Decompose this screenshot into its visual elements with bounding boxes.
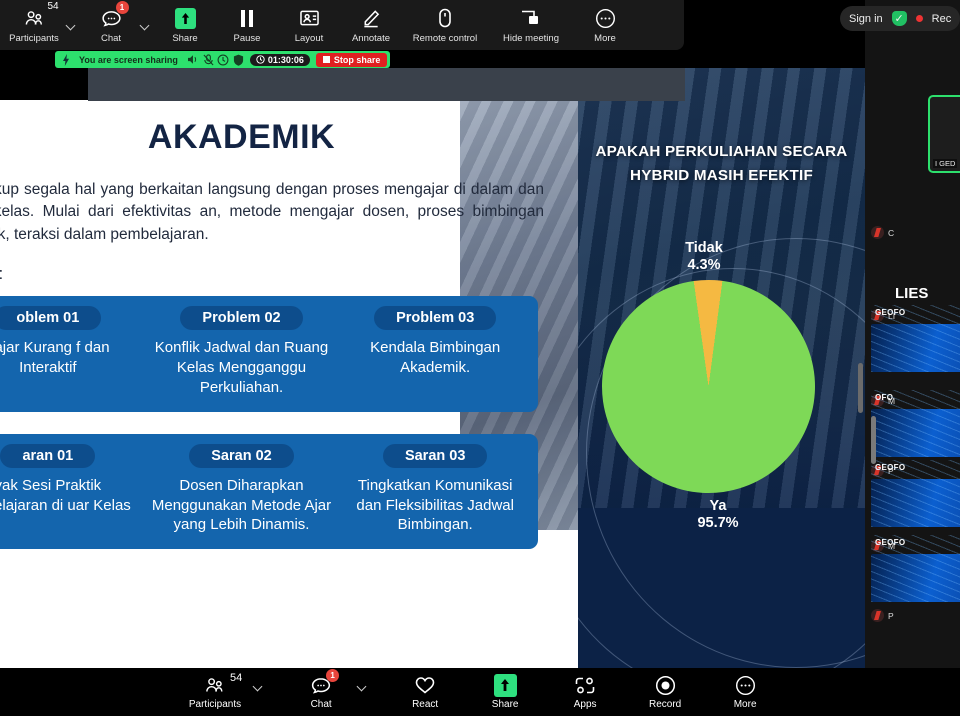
bottom-apps-button[interactable]: Apps — [559, 674, 611, 710]
sharing-indicator-icon — [58, 54, 73, 66]
meeting-control-bar: 54 Participants 1 Chat — [0, 668, 960, 716]
participants-chevron-down-icon[interactable] — [66, 20, 76, 30]
suggestions-card: aran 01 yak Sesi Praktik embelajaran di … — [0, 434, 538, 549]
bottom-record-label: Record — [649, 699, 681, 710]
record-dot-icon — [916, 15, 923, 22]
pie-label-ya-value: 95.7% — [668, 515, 768, 532]
more-dots-icon — [595, 6, 616, 30]
shield-icon[interactable] — [231, 54, 246, 66]
speaker-icon[interactable] — [186, 54, 201, 66]
bottom-react-button[interactable]: React — [399, 674, 451, 710]
list-item-label: P — [888, 611, 894, 621]
bottom-participants-group: 54 Participants — [189, 674, 267, 710]
toolbar-hide-meeting-label: Hide meeting — [503, 33, 559, 44]
hide-meeting-icon — [520, 6, 542, 30]
list-item-row: C — [871, 226, 960, 239]
apps-icon — [574, 674, 596, 696]
record-icon — [655, 674, 676, 696]
chat-unread-badge: 1 — [116, 1, 129, 14]
bottom-more-label: More — [734, 699, 757, 710]
screen-sharing-status-bar: You are screen sharing 01:30:06 Stop sha… — [55, 51, 390, 68]
participants-icon: 54 — [24, 6, 45, 30]
sharing-status-text: You are screen sharing — [79, 55, 178, 65]
list-item[interactable]: LI GEOFO — [871, 305, 960, 372]
more-dots-icon — [735, 674, 756, 696]
list-item[interactable]: C — [871, 222, 960, 241]
pie-label-tidak-name: Tidak — [654, 240, 754, 257]
bottom-chat-unread-badge: 1 — [326, 669, 339, 682]
list-item[interactable]: P — [871, 605, 960, 624]
problem-pill: Problem 03 — [374, 306, 496, 330]
toolbar-annotate-button[interactable]: Annotate — [340, 0, 402, 50]
presentation-slide: AKADEMIK i mencakup segala hal yang berk… — [0, 100, 578, 668]
toolbar-chat-label: Chat — [101, 33, 121, 44]
bottom-share-button[interactable]: Share — [479, 674, 531, 710]
right-side-panel: I GED C LIES LI GEOFO M OFO P GEOF — [865, 0, 960, 716]
suggestion-pill: Saran 02 — [189, 444, 293, 468]
problem-body: Kendala Bimbingan Akademik. — [344, 338, 526, 378]
right-panel-scrollbar[interactable] — [871, 416, 876, 464]
problem-column: oblem 01 gajar Kurang f dan Interaktif — [0, 306, 145, 397]
bottom-more-button[interactable]: More — [719, 674, 771, 710]
list-item[interactable]: M GEOFO — [871, 535, 960, 602]
video-thumbnail[interactable]: GEOFO — [871, 324, 960, 372]
bottom-participants-chevron-up-icon[interactable] — [253, 681, 263, 691]
bottom-participants-button[interactable]: 54 Participants — [189, 674, 241, 710]
slide-subheading: salahan: — [0, 264, 544, 284]
list-item-row: P — [871, 609, 960, 622]
layout-icon — [299, 6, 320, 30]
chart-title: APAKAH PERKULIAHAN SECARA HYBRID MASIH E… — [578, 140, 865, 187]
bottom-participants-label: Participants — [189, 699, 241, 710]
account-bar: Sign in ✓ Rec — [840, 6, 960, 31]
suggestion-column: aran 01 yak Sesi Praktik embelajaran di … — [0, 444, 145, 535]
toolbar-hide-meeting-button[interactable]: Hide meeting — [488, 0, 574, 50]
mic-muted-icon[interactable] — [201, 54, 216, 66]
bottom-chat-chevron-up-icon[interactable] — [357, 681, 367, 691]
video-thumbnail[interactable]: OFO — [871, 409, 960, 457]
toolbar-remote-control-button[interactable]: Remote control — [402, 0, 488, 50]
suggestion-column: Saran 02 Dosen Diharapkan Menggunakan Me… — [145, 444, 339, 535]
pie-label-tidak-value: 4.3% — [654, 257, 754, 274]
suggestion-body: Tingkatkan Komunikasi dan Fleksibilitas … — [344, 476, 526, 535]
pie-chart-panel: APAKAH PERKULIAHAN SECARA HYBRID MASIH E… — [578, 68, 865, 668]
record-label[interactable]: Rec — [932, 13, 952, 25]
toolbar-participants-button[interactable]: 54 Participants — [0, 0, 68, 50]
problem-body: gajar Kurang f dan Interaktif — [0, 338, 139, 378]
toolbar-pause-label: Pause — [234, 33, 261, 44]
bottom-react-label: React — [412, 699, 438, 710]
chat-chevron-down-icon[interactable] — [140, 20, 150, 30]
self-video-tile[interactable]: I GED — [928, 95, 960, 173]
slide-title: AKADEMIK — [0, 118, 578, 157]
video-thumbnail[interactable]: GEOFO — [871, 554, 960, 602]
toolbar-more-button[interactable]: More — [574, 0, 636, 50]
sharing-timer-value: 01:30:06 — [268, 55, 304, 65]
panel-heading: LIES — [895, 285, 928, 302]
problem-column: Problem 03 Kendala Bimbingan Akademik. — [338, 306, 532, 397]
suggestion-pill: Saran 03 — [383, 444, 487, 468]
toolbar-layout-label: Layout — [295, 33, 324, 44]
bottom-share-label: Share — [492, 699, 519, 710]
problem-body: Konflik Jadwal dan Ruang Kelas Menggangg… — [151, 338, 333, 397]
video-thumbnail[interactable]: GEOFO — [871, 479, 960, 527]
suggestion-column: Saran 03 Tingkatkan Komunikasi dan Fleks… — [338, 444, 532, 535]
suggestion-pill: aran 01 — [0, 444, 95, 468]
stop-square-icon — [323, 56, 330, 63]
channel-avatar-icon — [871, 609, 884, 622]
slide-paragraph: i mencakup segala hal yang berkaitan lan… — [0, 179, 544, 246]
toolbar-layout-button[interactable]: Layout — [278, 0, 340, 50]
channel-avatar-icon — [871, 226, 884, 239]
participants-count: 54 — [48, 1, 59, 12]
chat-icon: 1 — [310, 674, 332, 696]
problem-column: Problem 02 Konflik Jadwal dan Ruang Kela… — [145, 306, 339, 397]
toolbar-pause-button[interactable]: Pause — [216, 0, 278, 50]
share-screen-icon — [175, 6, 196, 30]
bottom-chat-label: Chat — [311, 699, 332, 710]
toolbar-chat-button[interactable]: 1 Chat — [80, 0, 142, 50]
self-video-name: I GED — [933, 159, 957, 168]
toolbar-more-label: More — [594, 33, 616, 44]
pie-label-tidak: Tidak 4.3% — [654, 240, 754, 275]
problem-pill: oblem 01 — [0, 306, 101, 330]
chat-icon: 1 — [101, 6, 122, 30]
bottom-chat-button[interactable]: 1 Chat — [295, 674, 347, 710]
sharing-timer: 01:30:06 — [250, 54, 310, 66]
bottom-apps-label: Apps — [574, 699, 597, 710]
toolbar-share-button[interactable]: Share — [154, 0, 216, 50]
list-item[interactable]: M OFO — [871, 390, 960, 457]
toolbar-annotate-label: Annotate — [352, 33, 390, 44]
record-circle-icon[interactable] — [216, 54, 231, 66]
sign-in-button[interactable]: Sign in — [849, 13, 883, 25]
problems-card: oblem 01 gajar Kurang f dan Interaktif P… — [0, 296, 538, 411]
toolbar-remote-control-label: Remote control — [413, 33, 477, 44]
pie-label-ya-name: Ya — [668, 498, 768, 515]
pencil-icon — [361, 6, 381, 30]
share-screen-icon — [494, 674, 517, 696]
toolbar-share-label: Share — [172, 33, 197, 44]
shield-check-icon[interactable]: ✓ — [892, 11, 907, 26]
clock-icon — [256, 55, 265, 64]
suggestion-body: Dosen Diharapkan Menggunakan Metode Ajar… — [151, 476, 333, 535]
pause-icon — [241, 6, 253, 30]
bottom-participants-count: 54 — [230, 672, 242, 684]
toolbar-participants-label: Participants — [9, 33, 59, 44]
stop-share-label: Stop share — [334, 55, 381, 65]
shared-screen-view: AKADEMIK i mencakup segala hal yang berk… — [0, 68, 865, 668]
stop-share-button[interactable]: Stop share — [316, 53, 388, 67]
collapsed-toolbar-strip — [88, 68, 685, 101]
shared-view-scrollbar[interactable] — [858, 363, 863, 413]
suggestion-body: yak Sesi Praktik embelajaran di uar Kela… — [0, 476, 139, 516]
screen-share-toolbar: 54 Participants 1 Chat Share Pause — [0, 0, 684, 50]
list-item[interactable]: P GEOFO — [871, 460, 960, 527]
problem-pill: Problem 02 — [180, 306, 302, 330]
list-item-label: C — [888, 228, 894, 238]
participants-icon: 54 — [204, 674, 226, 696]
heart-icon — [414, 674, 436, 696]
bottom-record-button[interactable]: Record — [639, 674, 691, 710]
bottom-chat-group: 1 Chat — [295, 674, 371, 710]
pie-label-ya: Ya 95.7% — [668, 498, 768, 533]
remote-control-icon — [437, 6, 453, 30]
